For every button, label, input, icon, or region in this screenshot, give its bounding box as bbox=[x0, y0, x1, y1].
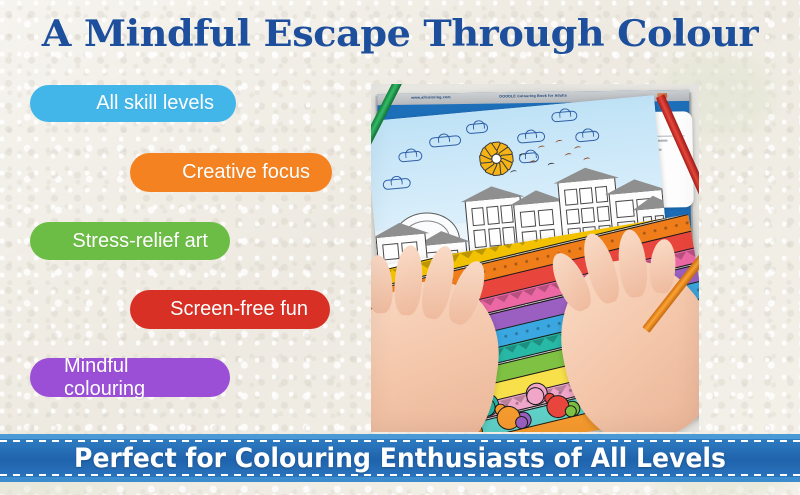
window-illustration bbox=[382, 243, 399, 261]
window-illustration bbox=[473, 229, 487, 248]
window-illustration bbox=[566, 208, 580, 225]
product-photo: www.allcoloring.com DOODLE Colouring Boo… bbox=[371, 84, 699, 432]
window-illustration bbox=[564, 189, 578, 206]
feature-pill-all-skill-levels: All skill levels bbox=[30, 85, 236, 122]
poster-root: A Mindful Escape Through Colour All skil… bbox=[0, 0, 800, 495]
feature-pill-creative-focus: Creative focus bbox=[130, 153, 332, 192]
feature-pill-label: Mindful colouring bbox=[64, 355, 208, 401]
feature-pill-label: Stress-relief art bbox=[72, 230, 208, 253]
window-illustration bbox=[486, 206, 500, 225]
bottom-banner: Perfect for Colouring Enthusiasts of All… bbox=[0, 434, 800, 482]
feature-pill-label: Creative focus bbox=[182, 161, 310, 184]
feature-pill-label: Screen-free fun bbox=[170, 298, 308, 321]
window-illustration bbox=[596, 205, 610, 222]
feature-pill-screen-free-fun: Screen-free fun bbox=[130, 290, 330, 329]
feature-pill-mindful-colouring: Mindful colouring bbox=[30, 358, 230, 397]
window-illustration bbox=[579, 187, 593, 204]
feature-pill-stress-relief-art: Stress-relief art bbox=[30, 222, 230, 260]
banner-text: Perfect for Colouring Enthusiasts of All… bbox=[28, 434, 772, 482]
window-illustration bbox=[500, 205, 514, 224]
feature-pill-label: All skill levels bbox=[96, 92, 214, 115]
window-illustration bbox=[538, 209, 554, 226]
window-illustration bbox=[488, 228, 502, 247]
window-illustration bbox=[520, 211, 536, 228]
window-illustration bbox=[581, 207, 595, 224]
page-title: A Mindful Escape Through Colour bbox=[0, 13, 800, 55]
window-illustration bbox=[471, 207, 485, 226]
